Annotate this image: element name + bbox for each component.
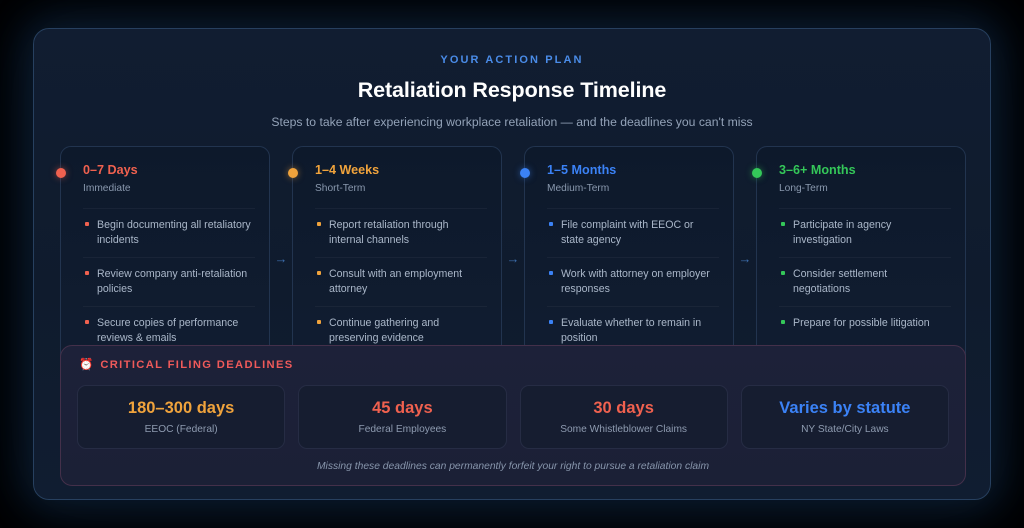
timeline-phase-card: 0–7 DaysImmediateBegin documenting all r… [60, 146, 270, 372]
phase-label: 3–6+ Months [779, 164, 951, 177]
deadlines-header: ⏰ CRITICAL FILING DEADLINES [77, 360, 949, 372]
deadline-caption: Federal Employees [307, 425, 497, 435]
deadline-caption: NY State/City Laws [750, 425, 940, 435]
bullet-icon [317, 222, 321, 226]
infographic-stage: YOUR ACTION PLAN Retaliation Response Ti… [0, 0, 1024, 528]
bullet-icon [781, 271, 785, 275]
phase-dot-icon [752, 168, 762, 178]
bullet-icon [549, 320, 553, 324]
phase-item: Participate in agency investigation [779, 208, 951, 257]
main-panel: YOUR ACTION PLAN Retaliation Response Ti… [33, 28, 991, 500]
phase-item-text: Secure copies of performance reviews & e… [97, 317, 238, 344]
timeline-phase-card: 3–6+ MonthsLong-TermParticipate in agenc… [756, 146, 966, 372]
phase-item-text: Consult with an employment attorney [329, 268, 462, 295]
deadline-caption: Some Whistleblower Claims [529, 425, 719, 435]
deadline-card-row: 180–300 daysEEOC (Federal)45 daysFederal… [77, 385, 949, 450]
phase-item: File complaint with EEOC or state agency [547, 208, 719, 257]
phase-item: Prepare for possible litigation [779, 306, 951, 340]
bullet-icon [85, 222, 89, 226]
bullet-icon [317, 320, 321, 324]
phase-sublabel: Medium-Term [547, 184, 719, 194]
phase-dot-icon [520, 168, 530, 178]
phase-item-text: Report retaliation through internal chan… [329, 219, 449, 246]
phase-item-text: Consider settlement negotiations [793, 268, 887, 295]
phase-item-list: Begin documenting all retaliatory incide… [83, 208, 255, 355]
timeline-row: 0–7 DaysImmediateBegin documenting all r… [60, 146, 966, 372]
deadline-card: 180–300 daysEEOC (Federal) [77, 385, 285, 450]
deadlines-title: CRITICAL FILING DEADLINES [100, 360, 293, 371]
deadline-value: Varies by statute [750, 400, 940, 417]
bullet-icon [85, 320, 89, 324]
phase-item-text: File complaint with EEOC or state agency [561, 219, 693, 246]
deadline-card: 45 daysFederal Employees [298, 385, 506, 450]
bullet-icon [549, 271, 553, 275]
page-title: Retaliation Response Timeline [34, 80, 990, 102]
phase-dot-icon [56, 168, 66, 178]
alarm-clock-icon: ⏰ [79, 360, 93, 372]
phase-item-list: Report retaliation through internal chan… [315, 208, 487, 355]
deadline-value: 30 days [529, 400, 719, 417]
arrow-right-icon: → [502, 146, 524, 372]
phase-item: Consider settlement negotiations [779, 257, 951, 306]
phase-item-list: File complaint with EEOC or state agency… [547, 208, 719, 355]
phase-item-text: Participate in agency investigation [793, 219, 891, 246]
critical-deadlines-panel: ⏰ CRITICAL FILING DEADLINES 180–300 days… [60, 345, 966, 486]
phase-sublabel: Immediate [83, 184, 255, 194]
deadline-caption: EEOC (Federal) [86, 425, 276, 435]
phase-item-text: Evaluate whether to remain in position [561, 317, 701, 344]
phase-item: Report retaliation through internal chan… [315, 208, 487, 257]
phase-label: 1–4 Weeks [315, 164, 487, 177]
arrow-right-icon: → [734, 146, 756, 372]
phase-item-text: Begin documenting all retaliatory incide… [97, 219, 251, 246]
phase-item-text: Work with attorney on employer responses [561, 268, 710, 295]
phase-item-list: Participate in agency investigationConsi… [779, 208, 951, 340]
phase-item: Begin documenting all retaliatory incide… [83, 208, 255, 257]
deadline-value: 180–300 days [86, 400, 276, 417]
header: YOUR ACTION PLAN Retaliation Response Ti… [34, 29, 990, 128]
timeline-phase-card: 1–4 WeeksShort-TermReport retaliation th… [292, 146, 502, 372]
bullet-icon [781, 222, 785, 226]
phase-item-text: Continue gathering and preserving eviden… [329, 317, 439, 344]
phase-item: Review company anti-retaliation policies [83, 257, 255, 306]
phase-label: 0–7 Days [83, 164, 255, 177]
phase-item-text: Prepare for possible litigation [793, 317, 930, 329]
page-subtitle: Steps to take after experiencing workpla… [34, 116, 990, 128]
deadline-value: 45 days [307, 400, 497, 417]
arrow-right-icon: → [270, 146, 292, 372]
phase-sublabel: Long-Term [779, 184, 951, 194]
phase-item-text: Review company anti-retaliation policies [97, 268, 247, 295]
deadlines-note: Missing these deadlines can permanently … [77, 462, 949, 472]
eyebrow-label: YOUR ACTION PLAN [34, 55, 990, 66]
phase-sublabel: Short-Term [315, 184, 487, 194]
phase-item: Work with attorney on employer responses [547, 257, 719, 306]
deadline-card: 30 daysSome Whistleblower Claims [520, 385, 728, 450]
bullet-icon [549, 222, 553, 226]
bullet-icon [85, 271, 89, 275]
deadline-card: Varies by statuteNY State/City Laws [741, 385, 949, 450]
timeline-phase-card: 1–5 MonthsMedium-TermFile complaint with… [524, 146, 734, 372]
bullet-icon [317, 271, 321, 275]
phase-item: Consult with an employment attorney [315, 257, 487, 306]
phase-label: 1–5 Months [547, 164, 719, 177]
bullet-icon [781, 320, 785, 324]
phase-dot-icon [288, 168, 298, 178]
